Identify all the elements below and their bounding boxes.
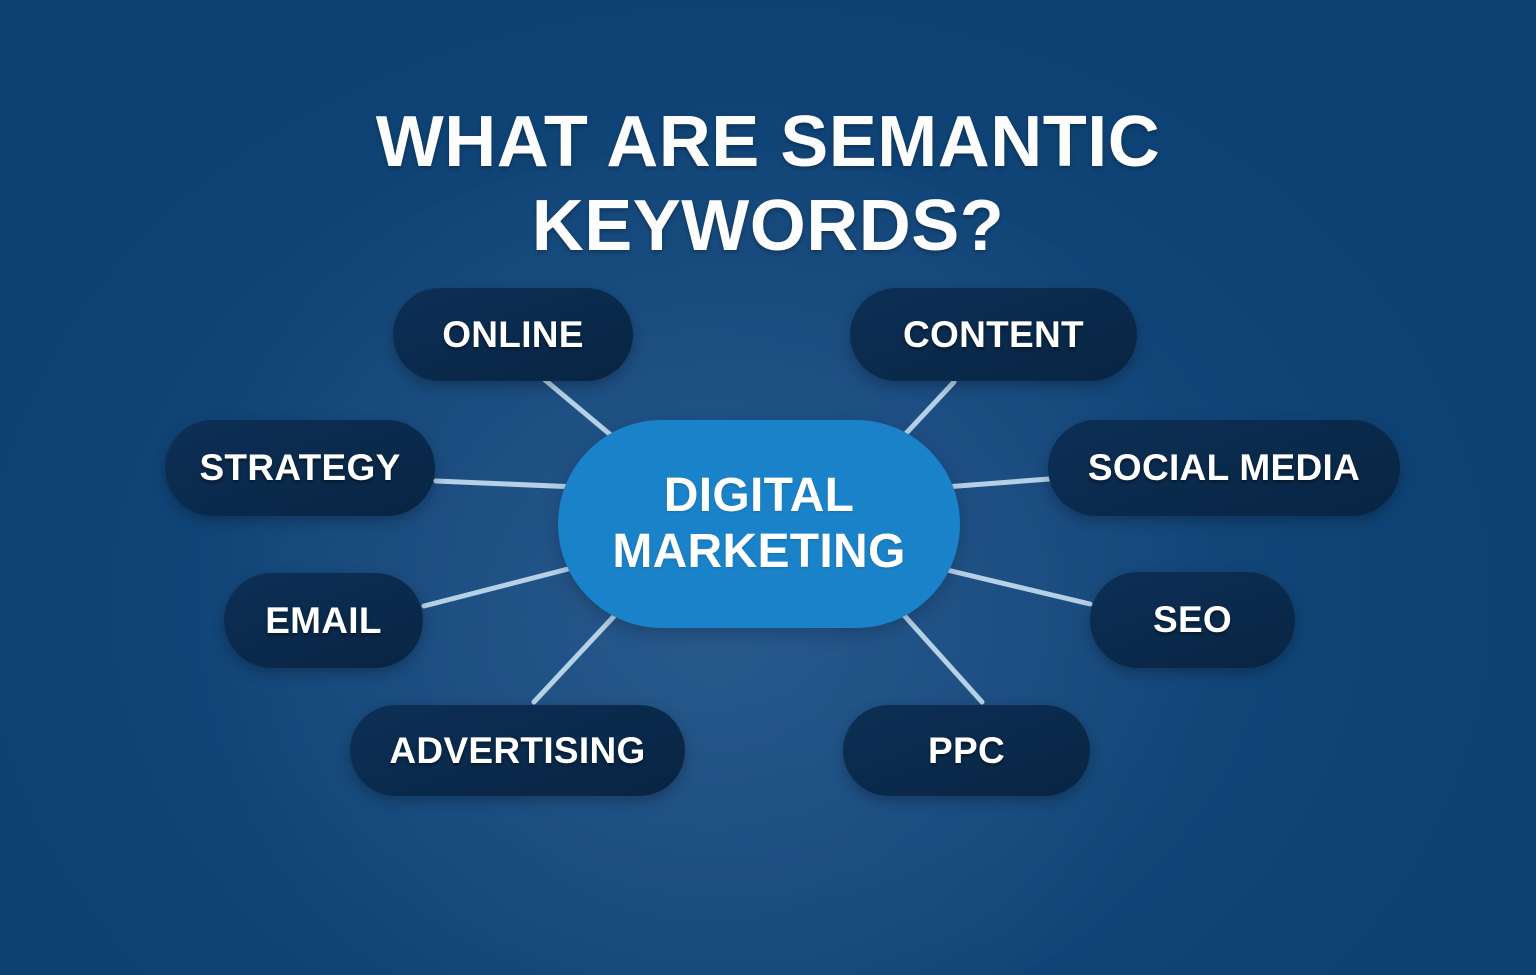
keyword-node-content-label: CONTENT (903, 314, 1084, 356)
central-node-label-line-1: DIGITAL (664, 468, 855, 524)
keyword-node-strategy[interactable]: STRATEGY (165, 420, 435, 516)
edge-digital-marketing-seo (947, 570, 1090, 604)
keyword-node-social-media-label: SOCIAL MEDIA (1088, 447, 1360, 489)
keyword-node-ppc[interactable]: PPC (843, 705, 1090, 796)
keyword-node-email[interactable]: EMAIL (224, 573, 423, 668)
infographic-canvas: WHAT ARE SEMANTIC KEYWORDS? DIGITAL MARK… (0, 0, 1536, 975)
edge-digital-marketing-social-media (945, 479, 1049, 487)
keyword-node-online-label: ONLINE (442, 314, 584, 356)
keyword-node-strategy-label: STRATEGY (199, 447, 400, 489)
edge-digital-marketing-ppc (902, 613, 982, 702)
central-node-label-line-2: MARKETING (612, 524, 905, 580)
keyword-node-seo[interactable]: SEO (1090, 572, 1295, 668)
edge-digital-marketing-email (424, 568, 572, 606)
keyword-node-advertising[interactable]: ADVERTISING (350, 705, 685, 796)
keyword-node-seo-label: SEO (1153, 599, 1232, 641)
keyword-node-content[interactable]: CONTENT (850, 288, 1137, 381)
keyword-node-online[interactable]: ONLINE (393, 288, 633, 381)
keyword-node-social-media[interactable]: SOCIAL MEDIA (1048, 420, 1400, 516)
central-node-digital-marketing[interactable]: DIGITAL MARKETING (558, 420, 960, 628)
keyword-node-email-label: EMAIL (265, 600, 382, 642)
edge-digital-marketing-strategy (436, 481, 577, 487)
keyword-node-advertising-label: ADVERTISING (389, 730, 645, 772)
keyword-node-ppc-label: PPC (928, 730, 1005, 772)
edge-digital-marketing-advertising (534, 613, 617, 702)
